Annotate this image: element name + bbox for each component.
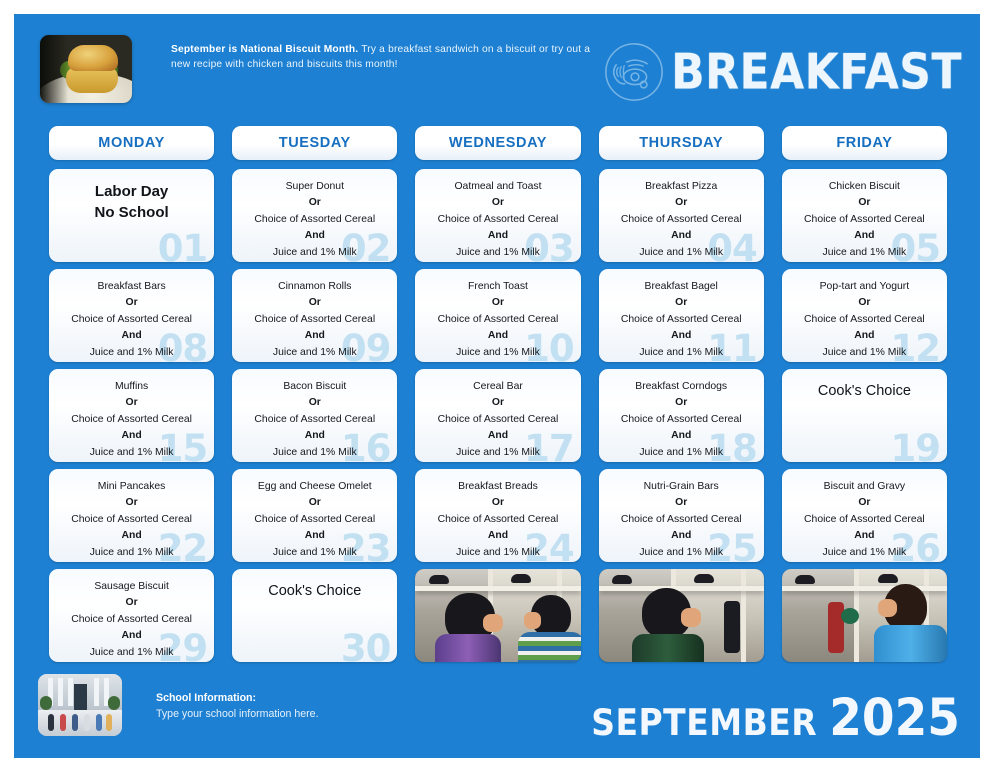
holiday-note-line: No School (55, 202, 208, 223)
menu-and: And (788, 328, 941, 344)
menu-and: And (238, 428, 391, 444)
menu-or: Or (55, 495, 208, 511)
holiday-note-line: Labor Day (55, 181, 208, 202)
cooks-choice-label: Cook's Choice (238, 581, 391, 602)
calendar-grid: MONDAYTUESDAYWEDNESDAYTHURSDAYFRIDAY Lab… (40, 126, 956, 669)
menu-and: And (55, 628, 208, 644)
menu-text: Biscuit and GravyOrChoice of Assorted Ce… (782, 469, 947, 561)
calendar-cell[interactable]: Breakfast PizzaOrChoice of Assorted Cere… (599, 169, 764, 262)
menu-drink: Juice and 1% Milk (55, 345, 208, 361)
menu-entree: Cereal Bar (421, 379, 574, 395)
menu-cereal: Choice of Assorted Cereal (605, 312, 758, 328)
menu-and: And (605, 328, 758, 344)
calendar-cell[interactable]: Chicken BiscuitOrChoice of Assorted Cere… (782, 169, 947, 262)
cooks-choice-note: Cook's Choice (232, 569, 397, 602)
menu-drink: Juice and 1% Milk (788, 245, 941, 261)
menu-drink: Juice and 1% Milk (788, 345, 941, 361)
menu-and: And (788, 228, 941, 244)
calendar-cell[interactable]: Oatmeal and ToastOrChoice of Assorted Ce… (415, 169, 580, 262)
calendar-cell[interactable]: Pop-tart and YogurtOrChoice of Assorted … (782, 269, 947, 362)
menu-entree: Sausage Biscuit (55, 579, 208, 595)
weekday-header-tuesday: TUESDAY (232, 126, 397, 160)
menu-drink: Juice and 1% Milk (421, 345, 574, 361)
weekday-header-label: TUESDAY (279, 135, 351, 151)
menu-entree: Mini Pancakes (55, 479, 208, 495)
menu-entree: Breakfast Bars (55, 279, 208, 295)
menu-and: And (605, 528, 758, 544)
menu-and: And (55, 328, 208, 344)
menu-drink: Juice and 1% Milk (238, 445, 391, 461)
weekday-header-label: THURSDAY (639, 135, 723, 151)
menu-entree: Nutri-Grain Bars (605, 479, 758, 495)
weekday-header-monday: MONDAY (49, 126, 214, 160)
menu-or: Or (605, 495, 758, 511)
menu-or: Or (55, 595, 208, 611)
calendar-cell[interactable]: Cinnamon RollsOrChoice of Assorted Cerea… (232, 269, 397, 362)
weekday-header-row: MONDAYTUESDAYWEDNESDAYTHURSDAYFRIDAY (40, 126, 956, 160)
menu-and: And (421, 428, 574, 444)
calendar-cell[interactable]: Breakfast CorndogsOrChoice of Assorted C… (599, 369, 764, 462)
menu-cereal: Choice of Assorted Cereal (238, 412, 391, 428)
menu-text: Egg and Cheese OmeletOrChoice of Assorte… (232, 469, 397, 561)
calendar-cell[interactable]: French ToastOrChoice of Assorted CerealA… (415, 269, 580, 362)
menu-text: Pop-tart and YogurtOrChoice of Assorted … (782, 269, 947, 361)
calendar-weeks: Labor DayNo School01Super DonutOrChoice … (40, 169, 956, 662)
biscuit-sandwich-photo (40, 35, 132, 103)
school-building-photo (38, 674, 122, 736)
menu-drink: Juice and 1% Milk (238, 545, 391, 561)
menu-cereal: Choice of Assorted Cereal (238, 212, 391, 228)
date-number: 30 (341, 627, 391, 662)
menu-or: Or (788, 295, 941, 311)
cooks-choice-note: Cook's Choice (782, 369, 947, 402)
calendar-cell-cooks-choice[interactable]: Cook's Choice30 (232, 569, 397, 662)
menu-entree: Chicken Biscuit (788, 179, 941, 195)
menu-and: And (55, 428, 208, 444)
calendar-cell[interactable]: Breakfast BarsOrChoice of Assorted Cerea… (49, 269, 214, 362)
menu-drink: Juice and 1% Milk (605, 245, 758, 261)
menu-cereal: Choice of Assorted Cereal (788, 512, 941, 528)
menu-text: Breakfast PizzaOrChoice of Assorted Cere… (599, 169, 764, 261)
menu-cereal: Choice of Assorted Cereal (55, 412, 208, 428)
menu-cereal: Choice of Assorted Cereal (421, 412, 574, 428)
menu-entree: Breakfast Corndogs (605, 379, 758, 395)
menu-text: French ToastOrChoice of Assorted CerealA… (415, 269, 580, 361)
menu-drink: Juice and 1% Milk (55, 445, 208, 461)
menu-drink: Juice and 1% Milk (55, 545, 208, 561)
promo-lead: September is National Biscuit Month. (171, 44, 358, 55)
calendar-cell[interactable]: Mini PancakesOrChoice of Assorted Cereal… (49, 469, 214, 562)
menu-text: Chicken BiscuitOrChoice of Assorted Cere… (782, 169, 947, 261)
menu-drink: Juice and 1% Milk (421, 445, 574, 461)
year-label: 2025 (829, 689, 960, 748)
menu-drink: Juice and 1% Milk (421, 545, 574, 561)
menu-text: Sausage BiscuitOrChoice of Assorted Cere… (49, 569, 214, 661)
menu-text: Breakfast BagelOrChoice of Assorted Cere… (599, 269, 764, 361)
poster-header: September is National Biscuit Month. Try… (14, 14, 980, 120)
menu-and: And (788, 528, 941, 544)
menu-text: Nutri-Grain BarsOrChoice of Assorted Cer… (599, 469, 764, 561)
menu-or: Or (238, 195, 391, 211)
menu-text: Mini PancakesOrChoice of Assorted Cereal… (49, 469, 214, 561)
menu-entree: Oatmeal and Toast (421, 179, 574, 195)
promo-message: September is National Biscuit Month. Try… (171, 42, 611, 72)
menu-cereal: Choice of Assorted Cereal (55, 612, 208, 628)
menu-text: Super DonutOrChoice of Assorted CerealAn… (232, 169, 397, 261)
menu-text: Cinnamon RollsOrChoice of Assorted Cerea… (232, 269, 397, 361)
month-label: SEPTEMBER (591, 701, 817, 744)
menu-and: And (421, 228, 574, 244)
menu-entree: Breakfast Pizza (605, 179, 758, 195)
calendar-cell-cooks-choice[interactable]: Cook's Choice19 (782, 369, 947, 462)
breakfast-plate-icon (603, 41, 665, 103)
menu-cereal: Choice of Assorted Cereal (605, 412, 758, 428)
menu-cereal: Choice of Assorted Cereal (238, 312, 391, 328)
menu-cereal: Choice of Assorted Cereal (605, 512, 758, 528)
menu-drink: Juice and 1% Milk (421, 245, 574, 261)
menu-and: And (238, 528, 391, 544)
brand-wordmark: BREAKFAST (671, 43, 962, 100)
menu-entree: Bacon Biscuit (238, 379, 391, 395)
menu-entree: Super Donut (238, 179, 391, 195)
date-number: 01 (158, 227, 208, 262)
calendar-cell[interactable]: Bacon BiscuitOrChoice of Assorted Cereal… (232, 369, 397, 462)
menu-entree: Breakfast Bagel (605, 279, 758, 295)
menu-or: Or (788, 195, 941, 211)
students-at-lockers-photo (415, 569, 580, 662)
menu-or: Or (238, 295, 391, 311)
poster-footer: School Information: Type your school inf… (14, 670, 980, 758)
date-number: 19 (890, 427, 940, 462)
menu-entree: Breakfast Breads (421, 479, 574, 495)
menu-cereal: Choice of Assorted Cereal (421, 512, 574, 528)
calendar-cell[interactable]: Nutri-Grain BarsOrChoice of Assorted Cer… (599, 469, 764, 562)
menu-drink: Juice and 1% Milk (605, 445, 758, 461)
menu-and: And (605, 428, 758, 444)
holiday-note: Labor DayNo School (49, 169, 214, 223)
menu-or: Or (605, 295, 758, 311)
menu-or: Or (421, 395, 574, 411)
month-year-title: SEPTEMBER 2025 (591, 691, 960, 746)
school-info-label: School Information: (156, 690, 319, 706)
menu-or: Or (788, 495, 941, 511)
menu-or: Or (55, 295, 208, 311)
menu-entree: Muffins (55, 379, 208, 395)
menu-drink: Juice and 1% Milk (605, 345, 758, 361)
calendar-cell[interactable]: Cereal BarOrChoice of Assorted CerealAnd… (415, 369, 580, 462)
menu-drink: Juice and 1% Milk (788, 545, 941, 561)
menu-or: Or (421, 195, 574, 211)
calendar-cell-holiday[interactable]: Labor DayNo School01 (49, 169, 214, 262)
weekday-header-label: FRIDAY (836, 135, 892, 151)
menu-drink: Juice and 1% Milk (55, 645, 208, 661)
weekday-header-thursday: THURSDAY (599, 126, 764, 160)
menu-cereal: Choice of Assorted Cereal (238, 512, 391, 528)
menu-entree: Pop-tart and Yogurt (788, 279, 941, 295)
menu-cereal: Choice of Assorted Cereal (788, 212, 941, 228)
calendar-cell[interactable]: Biscuit and GravyOrChoice of Assorted Ce… (782, 469, 947, 562)
breakfast-brand: BREAKFAST (603, 40, 962, 104)
student-girl-at-locker-photo (782, 569, 947, 662)
menu-or: Or (605, 195, 758, 211)
menu-or: Or (238, 495, 391, 511)
menu-cereal: Choice of Assorted Cereal (55, 312, 208, 328)
school-info-placeholder[interactable]: Type your school information here. (156, 706, 319, 722)
menu-drink: Juice and 1% Milk (238, 245, 391, 261)
menu-and: And (421, 528, 574, 544)
calendar-cell[interactable]: MuffinsOrChoice of Assorted CerealAndJui… (49, 369, 214, 462)
menu-or: Or (238, 395, 391, 411)
menu-cereal: Choice of Assorted Cereal (605, 212, 758, 228)
menu-text: Cereal BarOrChoice of Assorted CerealAnd… (415, 369, 580, 461)
school-information: School Information: Type your school inf… (156, 690, 319, 722)
menu-text: MuffinsOrChoice of Assorted CerealAndJui… (49, 369, 214, 461)
weekday-header-wednesday: WEDNESDAY (415, 126, 580, 160)
menu-drink: Juice and 1% Milk (605, 545, 758, 561)
calendar-cell[interactable]: Breakfast BreadsOrChoice of Assorted Cer… (415, 469, 580, 562)
menu-or: Or (55, 395, 208, 411)
menu-and: And (605, 228, 758, 244)
menu-text: Bacon BiscuitOrChoice of Assorted Cereal… (232, 369, 397, 461)
menu-cereal: Choice of Assorted Cereal (421, 312, 574, 328)
menu-and: And (238, 228, 391, 244)
weekday-header-friday: FRIDAY (782, 126, 947, 160)
menu-or: Or (421, 295, 574, 311)
menu-or: Or (605, 395, 758, 411)
menu-entree: French Toast (421, 279, 574, 295)
student-at-locker-photo (599, 569, 764, 662)
menu-cereal: Choice of Assorted Cereal (55, 512, 208, 528)
menu-cereal: Choice of Assorted Cereal (421, 212, 574, 228)
cooks-choice-label: Cook's Choice (788, 381, 941, 402)
menu-and: And (421, 328, 574, 344)
menu-text: Breakfast BarsOrChoice of Assorted Cerea… (49, 269, 214, 361)
menu-or: Or (421, 495, 574, 511)
calendar-cell[interactable]: Super DonutOrChoice of Assorted CerealAn… (232, 169, 397, 262)
menu-text: Breakfast CorndogsOrChoice of Assorted C… (599, 369, 764, 461)
calendar-cell[interactable]: Sausage BiscuitOrChoice of Assorted Cere… (49, 569, 214, 662)
menu-cereal: Choice of Assorted Cereal (788, 312, 941, 328)
menu-entree: Biscuit and Gravy (788, 479, 941, 495)
calendar-cell[interactable]: Breakfast BagelOrChoice of Assorted Cere… (599, 269, 764, 362)
weekday-header-label: WEDNESDAY (449, 135, 547, 151)
menu-and: And (238, 328, 391, 344)
menu-poster: September is National Biscuit Month. Try… (14, 14, 980, 758)
weekday-header-label: MONDAY (98, 135, 165, 151)
calendar-cell[interactable]: Egg and Cheese OmeletOrChoice of Assorte… (232, 469, 397, 562)
menu-text: Oatmeal and ToastOrChoice of Assorted Ce… (415, 169, 580, 261)
menu-entree: Egg and Cheese Omelet (238, 479, 391, 495)
menu-text: Breakfast BreadsOrChoice of Assorted Cer… (415, 469, 580, 561)
menu-and: And (55, 528, 208, 544)
menu-drink: Juice and 1% Milk (238, 345, 391, 361)
menu-entree: Cinnamon Rolls (238, 279, 391, 295)
